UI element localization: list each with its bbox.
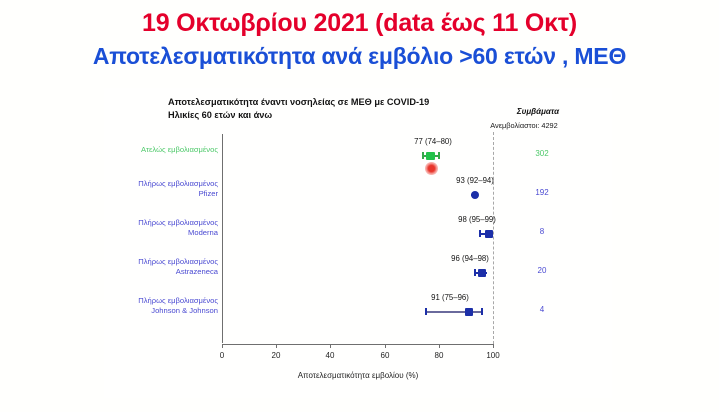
x-tick-60 (385, 344, 386, 348)
row-label-moderna: Πλήρως εμβολιασμένος Moderna (110, 218, 218, 237)
ci-cap-high-incomplete (438, 152, 440, 159)
forest-plot-panel: Αποτελεσματικότητα έναντι νοσηλείας σε Μ… (104, 88, 612, 398)
point-marker-johnson (465, 308, 473, 316)
x-tick-label-60: 60 (370, 351, 400, 360)
row-label-line1: Ατελώς εμβολιασμένος (141, 145, 218, 154)
ci-cap-low-incomplete (422, 152, 424, 159)
slide-header: 19 Οκτωβρίου 2021 (data έως 11 Οκτ) Αποτ… (0, 8, 719, 71)
row-label-astrazeneca: Πλήρως εμβολιασμένος Astrazeneca (110, 257, 218, 276)
events-count-johnson: 4 (522, 305, 562, 314)
row-label-incomplete: Ατελώς εμβολιασμένος (110, 145, 218, 155)
estimate-label-moderna: 98 (95–99) (458, 215, 496, 224)
x-tick-0 (222, 344, 223, 348)
forest-row-astrazeneca: Πλήρως εμβολιασμένος Astrazeneca 96 (94–… (104, 251, 612, 289)
x-tick-label-100: 100 (478, 351, 508, 360)
row-label-line1: Πλήρως εμβολιασμένος (138, 296, 218, 305)
events-count-pfizer: 192 (522, 188, 562, 197)
point-marker-moderna (485, 230, 493, 238)
row-label-line1: Πλήρως εμβολιασμένος (138, 179, 218, 188)
x-axis-line (222, 344, 494, 345)
x-tick-label-20: 20 (261, 351, 291, 360)
ci-cap-low-astrazeneca (474, 269, 476, 276)
x-tick-80 (439, 344, 440, 348)
x-tick-20 (276, 344, 277, 348)
x-tick-label-80: 80 (424, 351, 454, 360)
ci-cap-high-johnson (481, 308, 483, 315)
row-label-line2: Johnson & Johnson (110, 306, 218, 316)
estimate-label-astrazeneca: 96 (94–98) (451, 254, 489, 263)
events-count-incomplete: 302 (522, 149, 562, 158)
x-tick-100 (493, 344, 494, 348)
x-tick-40 (330, 344, 331, 348)
estimate-label-johnson: 91 (75–96) (431, 293, 469, 302)
row-label-line2: Moderna (110, 228, 218, 238)
estimate-label-pfizer: 93 (92–94) (456, 176, 494, 185)
ci-cap-low-johnson (425, 308, 427, 315)
plot-area: Ατελώς εμβολιασμένος 77 (74–80) 302 Πλήρ… (104, 88, 612, 398)
events-count-moderna: 8 (522, 227, 562, 236)
point-marker-pfizer (471, 191, 479, 199)
row-label-pfizer: Πλήρως εμβολιασμένος Pfizer (110, 179, 218, 198)
ci-line-johnson (425, 311, 483, 313)
forest-row-johnson: Πλήρως εμβολιασμένος Johnson & Johnson 9… (104, 290, 612, 328)
slide-title-secondary: Αποτελεσματικότητα ανά εμβόλιο >60 ετών … (0, 41, 719, 71)
row-label-line1: Πλήρως εμβολιασμένος (138, 257, 218, 266)
forest-row-incomplete: Ατελώς εμβολιασμένος 77 (74–80) 302 (104, 134, 612, 172)
x-axis-title: Αποτελεσματικότητα εμβολίου (%) (222, 371, 494, 380)
estimate-label-incomplete: 77 (74–80) (414, 137, 452, 146)
row-label-johnson: Πλήρως εμβολιασμένος Johnson & Johnson (110, 296, 218, 315)
point-marker-astrazeneca (478, 269, 486, 277)
events-count-astrazeneca: 20 (522, 266, 562, 275)
ci-cap-low-moderna (479, 230, 481, 237)
forest-row-moderna: Πλήρως εμβολιασμένος Moderna 98 (95–99) … (104, 212, 612, 250)
forest-row-pfizer: Πλήρως εμβολιασμένος Pfizer 93 (92–94) 1… (104, 173, 612, 211)
row-label-line2: Pfizer (110, 189, 218, 199)
row-label-line2: Astrazeneca (110, 267, 218, 277)
row-label-line1: Πλήρως εμβολιασμένος (138, 218, 218, 227)
point-marker-incomplete (426, 152, 435, 160)
x-tick-label-0: 0 (207, 351, 237, 360)
x-tick-label-40: 40 (315, 351, 345, 360)
slide-title-primary: 19 Οκτωβρίου 2021 (data έως 11 Οκτ) (0, 8, 719, 38)
